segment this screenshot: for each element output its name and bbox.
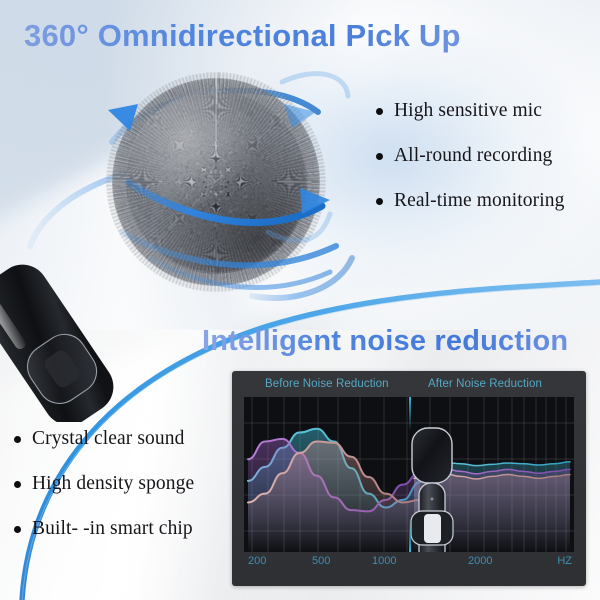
feature-label: Built- -in smart chip (32, 518, 193, 540)
lavalier-mic-small (407, 425, 457, 552)
list-item: Crystal clear sound (14, 428, 194, 450)
center-marker-line (409, 397, 411, 552)
feature-list-bottom: Crystal clear sound High density sponge … (14, 428, 194, 563)
bullet-dot-icon (14, 436, 21, 443)
list-item: High sensitive mic (376, 100, 564, 122)
lavalier-microphone-body (0, 222, 174, 422)
x-tick-200: 200 (248, 555, 266, 567)
feature-label: Real-time monitoring (394, 190, 564, 212)
feature-label: High density sponge (32, 473, 194, 495)
legend-label-before: Before Noise Reduction (265, 378, 389, 390)
list-item: Built- -in smart chip (14, 518, 194, 540)
bullet-dot-icon (376, 153, 383, 160)
list-item: All-round recording (376, 145, 564, 167)
list-item: High density sponge (14, 473, 194, 495)
feature-label: All-round recording (394, 145, 552, 167)
legend-label-after: After Noise Reduction (428, 378, 542, 390)
x-tick-1000: 1000 (372, 555, 396, 567)
page-title-sub: Intelligent noise reduction (202, 325, 568, 358)
x-tick-2000: 2000 (468, 555, 492, 567)
feature-label: Crystal clear sound (32, 428, 184, 450)
bullet-dot-icon (14, 481, 21, 488)
product-poster: 360° Omnidirectional Pick Up Intelligent… (0, 0, 600, 600)
bullet-dot-icon (376, 108, 383, 115)
bullet-dot-icon (376, 198, 383, 205)
x-tick-500: 500 (312, 555, 330, 567)
noise-reduction-chart-panel: Before Noise Reduction After Noise Reduc… (232, 371, 586, 586)
feature-label: High sensitive mic (394, 100, 542, 122)
page-title-main: 360° Omnidirectional Pick Up (24, 18, 461, 54)
list-item: Real-time monitoring (376, 190, 564, 212)
chart-x-axis: 200 500 1000 2000 HZ (244, 555, 574, 573)
x-axis-unit-hz: HZ (557, 555, 572, 567)
chart-plot-area (244, 397, 574, 552)
bullet-dot-icon (14, 526, 21, 533)
feature-list-top: High sensitive mic All-round recording R… (376, 100, 564, 235)
